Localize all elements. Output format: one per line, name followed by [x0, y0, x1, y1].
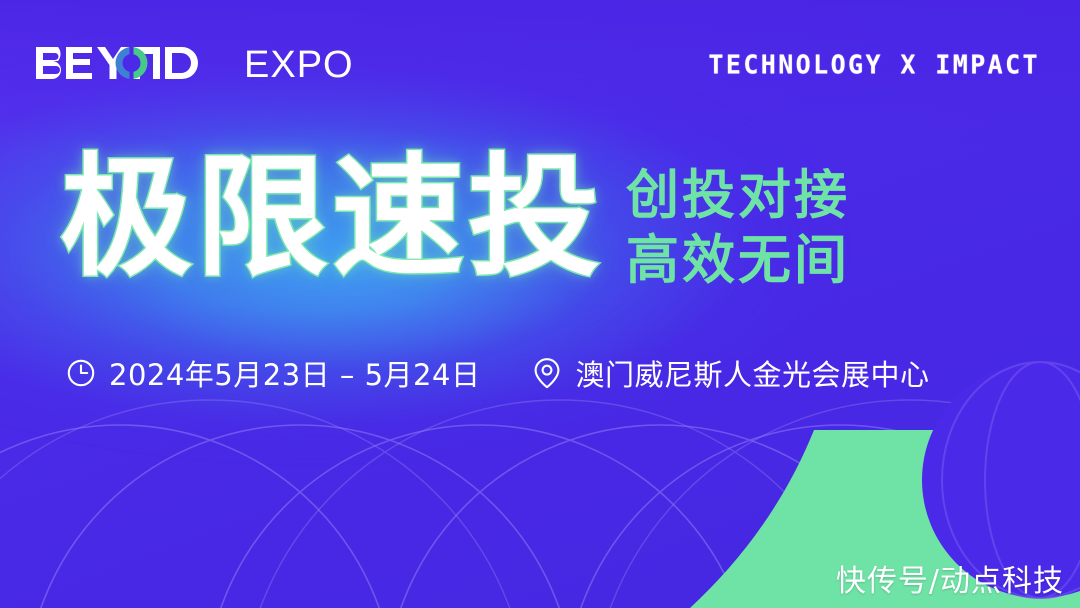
event-venue-item: 澳门威尼斯人金光会展中心 [532, 352, 929, 394]
subheadline-group: 创投对接 高效无间 [626, 152, 850, 291]
event-date-text: 2024年5月23日 – 5月24日 [109, 352, 480, 394]
subheadline-line-2: 高效无间 [626, 231, 850, 290]
beyond-logo-icon [34, 43, 230, 85]
subheadline-line-1: 创投对接 [626, 166, 850, 225]
brand-expo-label: EXPO [244, 46, 354, 84]
poster-root: EXPO TECHNOLOGY X IMPACT 极限速投 创投对接 高效无间 … [0, 0, 1080, 608]
event-info-row: 2024年5月23日 – 5月24日 澳门威尼斯人金光会展中心 [66, 352, 929, 394]
header-tagline: TECHNOLOGY X IMPACT [708, 49, 1040, 79]
poster-header: EXPO TECHNOLOGY X IMPACT [0, 0, 1080, 128]
headline-block: 极限速投 创投对接 高效无间 [60, 152, 1040, 291]
event-venue-text: 澳门威尼斯人金光会展中心 [575, 352, 929, 394]
watermark-label: 快传号/动点科技 [836, 556, 1064, 600]
event-date-item: 2024年5月23日 – 5月24日 [66, 352, 480, 394]
clock-icon [66, 358, 96, 388]
main-headline: 极限速投 [60, 152, 604, 284]
location-pin-icon [532, 357, 562, 389]
brand-lockup: EXPO [34, 43, 354, 85]
